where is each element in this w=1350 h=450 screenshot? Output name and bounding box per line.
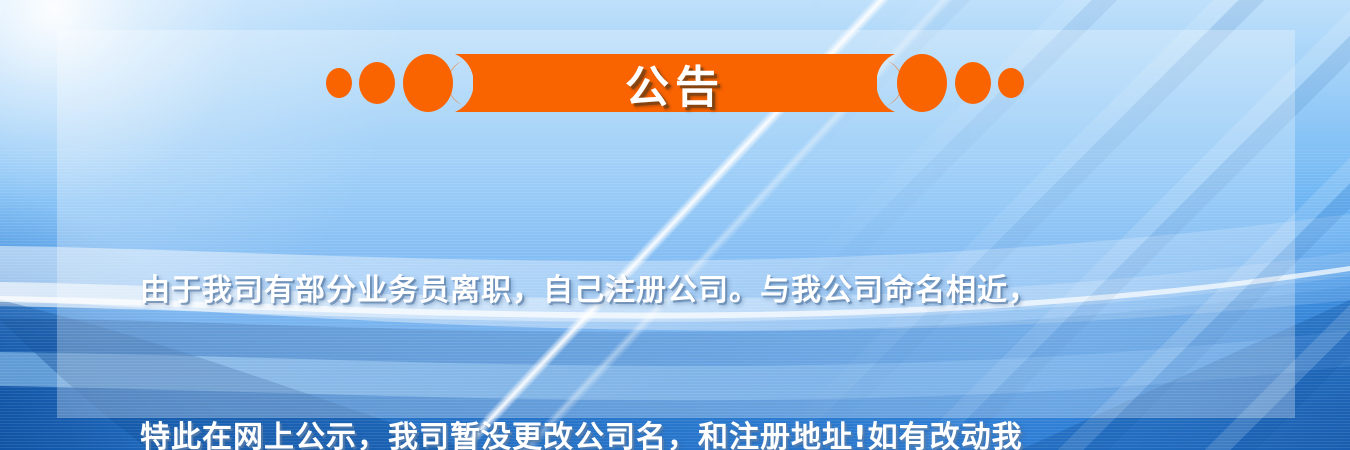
announcement-line: 由于我司有部分业务员离职，自己注册公司。与我公司命名相近， [140,266,1230,315]
announcement-body: 由于我司有部分业务员离职，自己注册公司。与我公司命名相近， 特此在网上公示，我司… [140,168,1230,450]
page-title: 公告 [0,52,1350,114]
announcement-line: 特此在网上公示，我司暂没更改公司名，和注册地址!如有改动我 [140,413,1230,450]
announcement-banner: 公告 由于我司有部分业务员离职，自己注册公司。与我公司命名相近， 特此在网上公示… [0,0,1350,450]
